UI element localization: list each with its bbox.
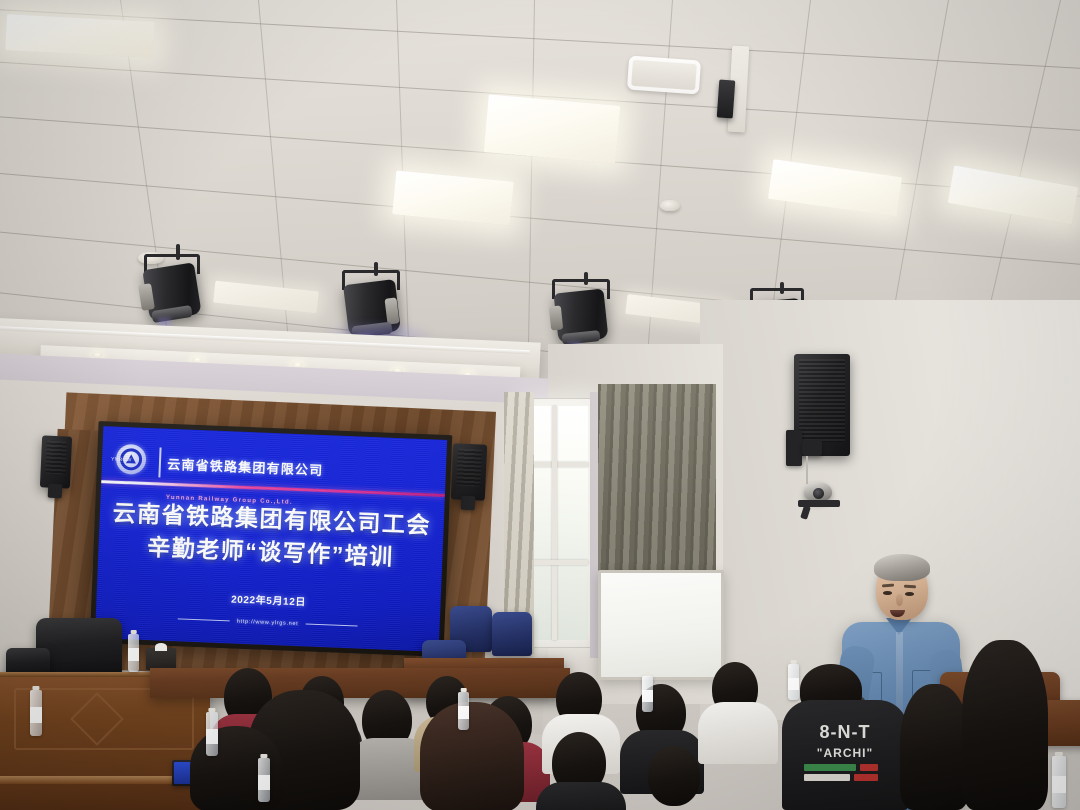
footer-rule-right: [305, 623, 357, 626]
audience-member-head: [420, 702, 524, 810]
bottle-label: [258, 775, 270, 790]
wall-speaker: [40, 435, 72, 488]
water-bottle: [642, 676, 653, 712]
bottle-label: [458, 706, 469, 719]
stage-light-fixture: [128, 244, 218, 328]
water-bottle: [1052, 756, 1066, 808]
presenter-eyebrow-right: [904, 585, 916, 588]
bottle-label: [642, 690, 653, 702]
window-glass: [528, 406, 588, 640]
auditorium-seat: [492, 612, 532, 656]
bottle-cap: [130, 630, 137, 634]
slide-title: 云南省铁路集团有限公司工会 辛勤老师“谈写作”培训: [98, 496, 444, 575]
tshirt-graphic-chip: [854, 774, 878, 781]
footer-rule-left: [178, 618, 230, 621]
logo-subtext: YNRGW: [111, 457, 132, 464]
speaker-grille: [45, 441, 66, 475]
bottle-cap: [1055, 752, 1063, 756]
tshirt-graphic-chip: [860, 764, 878, 771]
ceiling-panel-light: [484, 94, 621, 163]
bottle-cap: [208, 708, 215, 712]
ceiling-diffuser-vent: [627, 56, 701, 95]
camera-lens-icon: [813, 488, 824, 499]
window-mullion-horizontal-low: [528, 560, 588, 565]
bottle-cap: [32, 686, 39, 690]
audience-member-torso: [698, 702, 778, 764]
audience-member-head: [900, 684, 970, 810]
audience-desk-row-back: [150, 668, 570, 698]
water-bottle: [258, 758, 270, 802]
bottle-label: [1052, 776, 1066, 794]
smoke-detector-icon: [660, 200, 680, 211]
projection-screen: YNRGW 云南省铁路集团有限公司 Yunnan Railway Group C…: [90, 421, 453, 657]
bottle-label: [206, 729, 218, 744]
tissue-box: [146, 648, 176, 670]
bottle-label: [128, 648, 139, 661]
speaker-bracket: [48, 484, 63, 499]
ceiling-panel-light: [5, 14, 155, 58]
bottle-cap: [460, 688, 467, 692]
bottle-cap: [260, 754, 267, 758]
audience-member-printed-tee: 8-N-T "ARCHI": [782, 700, 908, 810]
audience-member-torso: [536, 782, 626, 810]
ptz-camera: [796, 482, 842, 516]
speaker-grille: [799, 359, 845, 442]
conference-hall-photo: YNRGW 云南省铁路集团有限公司 Yunnan Railway Group C…: [0, 0, 1080, 810]
water-bottle: [206, 712, 218, 756]
tshirt-graphic-chip: [804, 764, 856, 771]
bottle-label: [30, 707, 42, 723]
window-mullion-horizontal: [528, 462, 588, 467]
presenter-eye-right: [905, 592, 914, 596]
speaker-mount-arm: [802, 440, 822, 456]
tshirt-text-primary: 8-N-T: [782, 722, 908, 743]
water-bottle: [458, 692, 469, 730]
water-bottle: [30, 690, 42, 736]
tshirt-graphic-chip: [804, 774, 850, 781]
wall-speaker: [451, 443, 488, 500]
slide-surface: YNRGW 云南省铁路集团有限公司 Yunnan Railway Group C…: [95, 426, 447, 652]
water-bottle: [128, 634, 139, 672]
presenter-eye-left: [883, 591, 892, 595]
window-mullion-vertical: [552, 406, 557, 640]
audience-member-head: [962, 640, 1048, 810]
speaker-cable: [806, 456, 808, 484]
presenter-hair: [874, 554, 930, 581]
speaker-grille: [456, 448, 482, 486]
speaker-mount-bracket: [786, 430, 802, 466]
slide-date: 2022年5月12日: [96, 585, 440, 614]
slide-url: http://www.ylrgs.net: [237, 618, 299, 626]
speaker-bracket: [461, 496, 476, 511]
audience-member-head: [648, 746, 700, 806]
ceiling-mounted-device: [717, 79, 736, 118]
water-bottle: [788, 664, 799, 700]
bottle-cap: [644, 672, 651, 676]
slide-footer: http://www.ylrgs.net: [96, 613, 440, 633]
tshirt-text-secondary: "ARCHI": [782, 746, 908, 760]
presenter-nose: [896, 594, 903, 606]
bottle-cap: [790, 660, 797, 664]
whiteboard: [598, 570, 724, 680]
bottle-label: [788, 678, 799, 690]
